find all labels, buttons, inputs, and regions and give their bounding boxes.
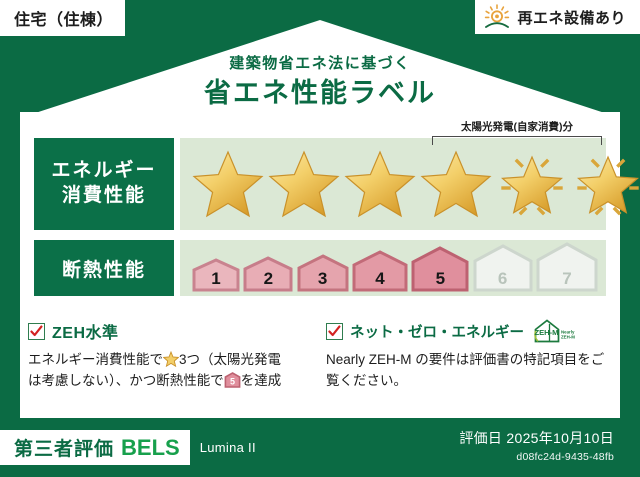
- footer-evaluation: 評価日 2025年10月10日 d08fc24d-9435-48fb: [459, 428, 614, 463]
- insulation-grades-panel: 1 2 3 4: [180, 240, 606, 296]
- grade-house-5-value: 5: [411, 270, 469, 287]
- zeh-standard-header: ZEH水準: [28, 320, 314, 342]
- zeh-body-star-count: 3つ（太陽光発電: [179, 352, 281, 367]
- grade-house-1-value: 1: [192, 270, 240, 287]
- renewable-energy-tag: 再エネ設備あり: [475, 0, 640, 34]
- net-zero-body: Nearly ZEH-M の要件は評価書の特記項目をご覧ください。: [326, 350, 612, 391]
- svg-text:ZEH-M: ZEH-M: [534, 328, 558, 337]
- footer-bels: 第三者評価 BELS Lumina II: [0, 430, 256, 465]
- grade-house-7: 7: [536, 242, 598, 292]
- title-subtitle: 建築物省エネ法に基づく: [0, 56, 640, 71]
- energy-performance-label: 住宅（住棟） 再エネ設備あり 建築物省エネ法に基づく 省エネ性能ラベル エネルギ…: [0, 0, 640, 477]
- star-3: [342, 146, 418, 222]
- bels-badge: 第三者評価 BELS: [0, 430, 190, 465]
- insulation-grade-scale: 1 2 3 4: [192, 240, 598, 296]
- building-type-tag: 住宅（住棟）: [0, 0, 125, 36]
- star-rating: [190, 138, 602, 230]
- grade-house-4-value: 4: [352, 270, 408, 287]
- grade-house-1: 1: [192, 258, 240, 292]
- grade-house-2: 2: [243, 256, 293, 292]
- energy-performance-row: エネルギー 消費性能: [34, 138, 606, 230]
- grade-house-2-value: 2: [243, 270, 293, 287]
- building-type-text: 住宅（住棟）: [14, 6, 113, 30]
- inline-star-icon: [163, 351, 179, 367]
- net-zero-header: ネット・ゼロ・エネルギー ZEH-M Nearly ZEH-M: [326, 320, 612, 342]
- star-5-solar: [494, 146, 570, 222]
- zeh-body-part1: エネルギー消費性能で: [28, 352, 163, 367]
- third-party-label: 第三者評価: [14, 434, 114, 461]
- grade-house-6-value: 6: [473, 270, 533, 287]
- net-zero-title: ネット・ゼロ・エネルギー: [350, 321, 524, 342]
- zeh-standard-note: ZEH水準 エネルギー消費性能で3つ（太陽光発電は考慮しない）、かつ断熱性能で5…: [28, 320, 314, 391]
- insulation-performance-row: 断熱性能 1 2: [34, 240, 606, 296]
- zeh-m-logo-icon: ZEH-M Nearly ZEH-M: [533, 318, 585, 344]
- insulation-performance-label-box: 断熱性能: [34, 240, 174, 296]
- energy-performance-label-box: エネルギー 消費性能: [34, 138, 174, 230]
- grade-house-4: 4: [352, 250, 408, 292]
- grade-house-3-value: 3: [297, 270, 349, 287]
- bels-text: BELS: [121, 435, 180, 461]
- evaluation-id: d08fc24d-9435-48fb: [459, 451, 614, 463]
- inline-house-icon: 5: [224, 372, 241, 388]
- grade-house-6: 6: [473, 244, 533, 292]
- svg-text:ZEH-M: ZEH-M: [561, 334, 575, 339]
- zeh-body-part2: は考慮しない）、かつ断熱性能で: [28, 373, 224, 388]
- insulation-label-text: 断熱性能: [62, 255, 146, 282]
- energy-stars-panel: 太陽光発電(自家消費)分: [180, 138, 606, 230]
- star-6-solar: [570, 146, 640, 222]
- solar-generation-bracket: 太陽光発電(自家消費)分: [432, 122, 602, 145]
- bracket-line: [432, 136, 602, 145]
- star-4: [418, 146, 494, 222]
- star-2: [266, 146, 342, 222]
- label-title: 建築物省エネ法に基づく 省エネ性能ラベル: [0, 56, 640, 107]
- star-1: [190, 146, 266, 222]
- grade-house-3: 3: [297, 254, 349, 292]
- net-zero-energy-note: ネット・ゼロ・エネルギー ZEH-M Nearly ZEH-M Nearly Z…: [326, 320, 612, 391]
- checkmark-icon: [28, 323, 45, 340]
- checkmark-icon: [326, 323, 343, 340]
- energy-label-line2: 消費性能: [62, 184, 146, 209]
- svg-text:5: 5: [230, 376, 235, 386]
- zeh-standard-title: ZEH水準: [52, 319, 119, 343]
- evaluation-date: 評価日 2025年10月10日: [459, 428, 614, 448]
- grade-house-7-value: 7: [536, 270, 598, 287]
- project-name: Lumina II: [200, 440, 256, 455]
- sun-icon: [483, 4, 511, 30]
- title-main: 省エネ性能ラベル: [0, 80, 640, 107]
- energy-label-line1: エネルギー: [51, 159, 156, 184]
- grade-house-5: 5: [411, 246, 469, 292]
- zeh-body-part3: を達成: [241, 373, 282, 388]
- renewable-energy-text: 再エネ設備あり: [517, 7, 626, 28]
- solar-generation-caption: 太陽光発電(自家消費)分: [432, 122, 602, 134]
- zeh-standard-body: エネルギー消費性能で3つ（太陽光発電は考慮しない）、かつ断熱性能で5を達成: [28, 350, 314, 391]
